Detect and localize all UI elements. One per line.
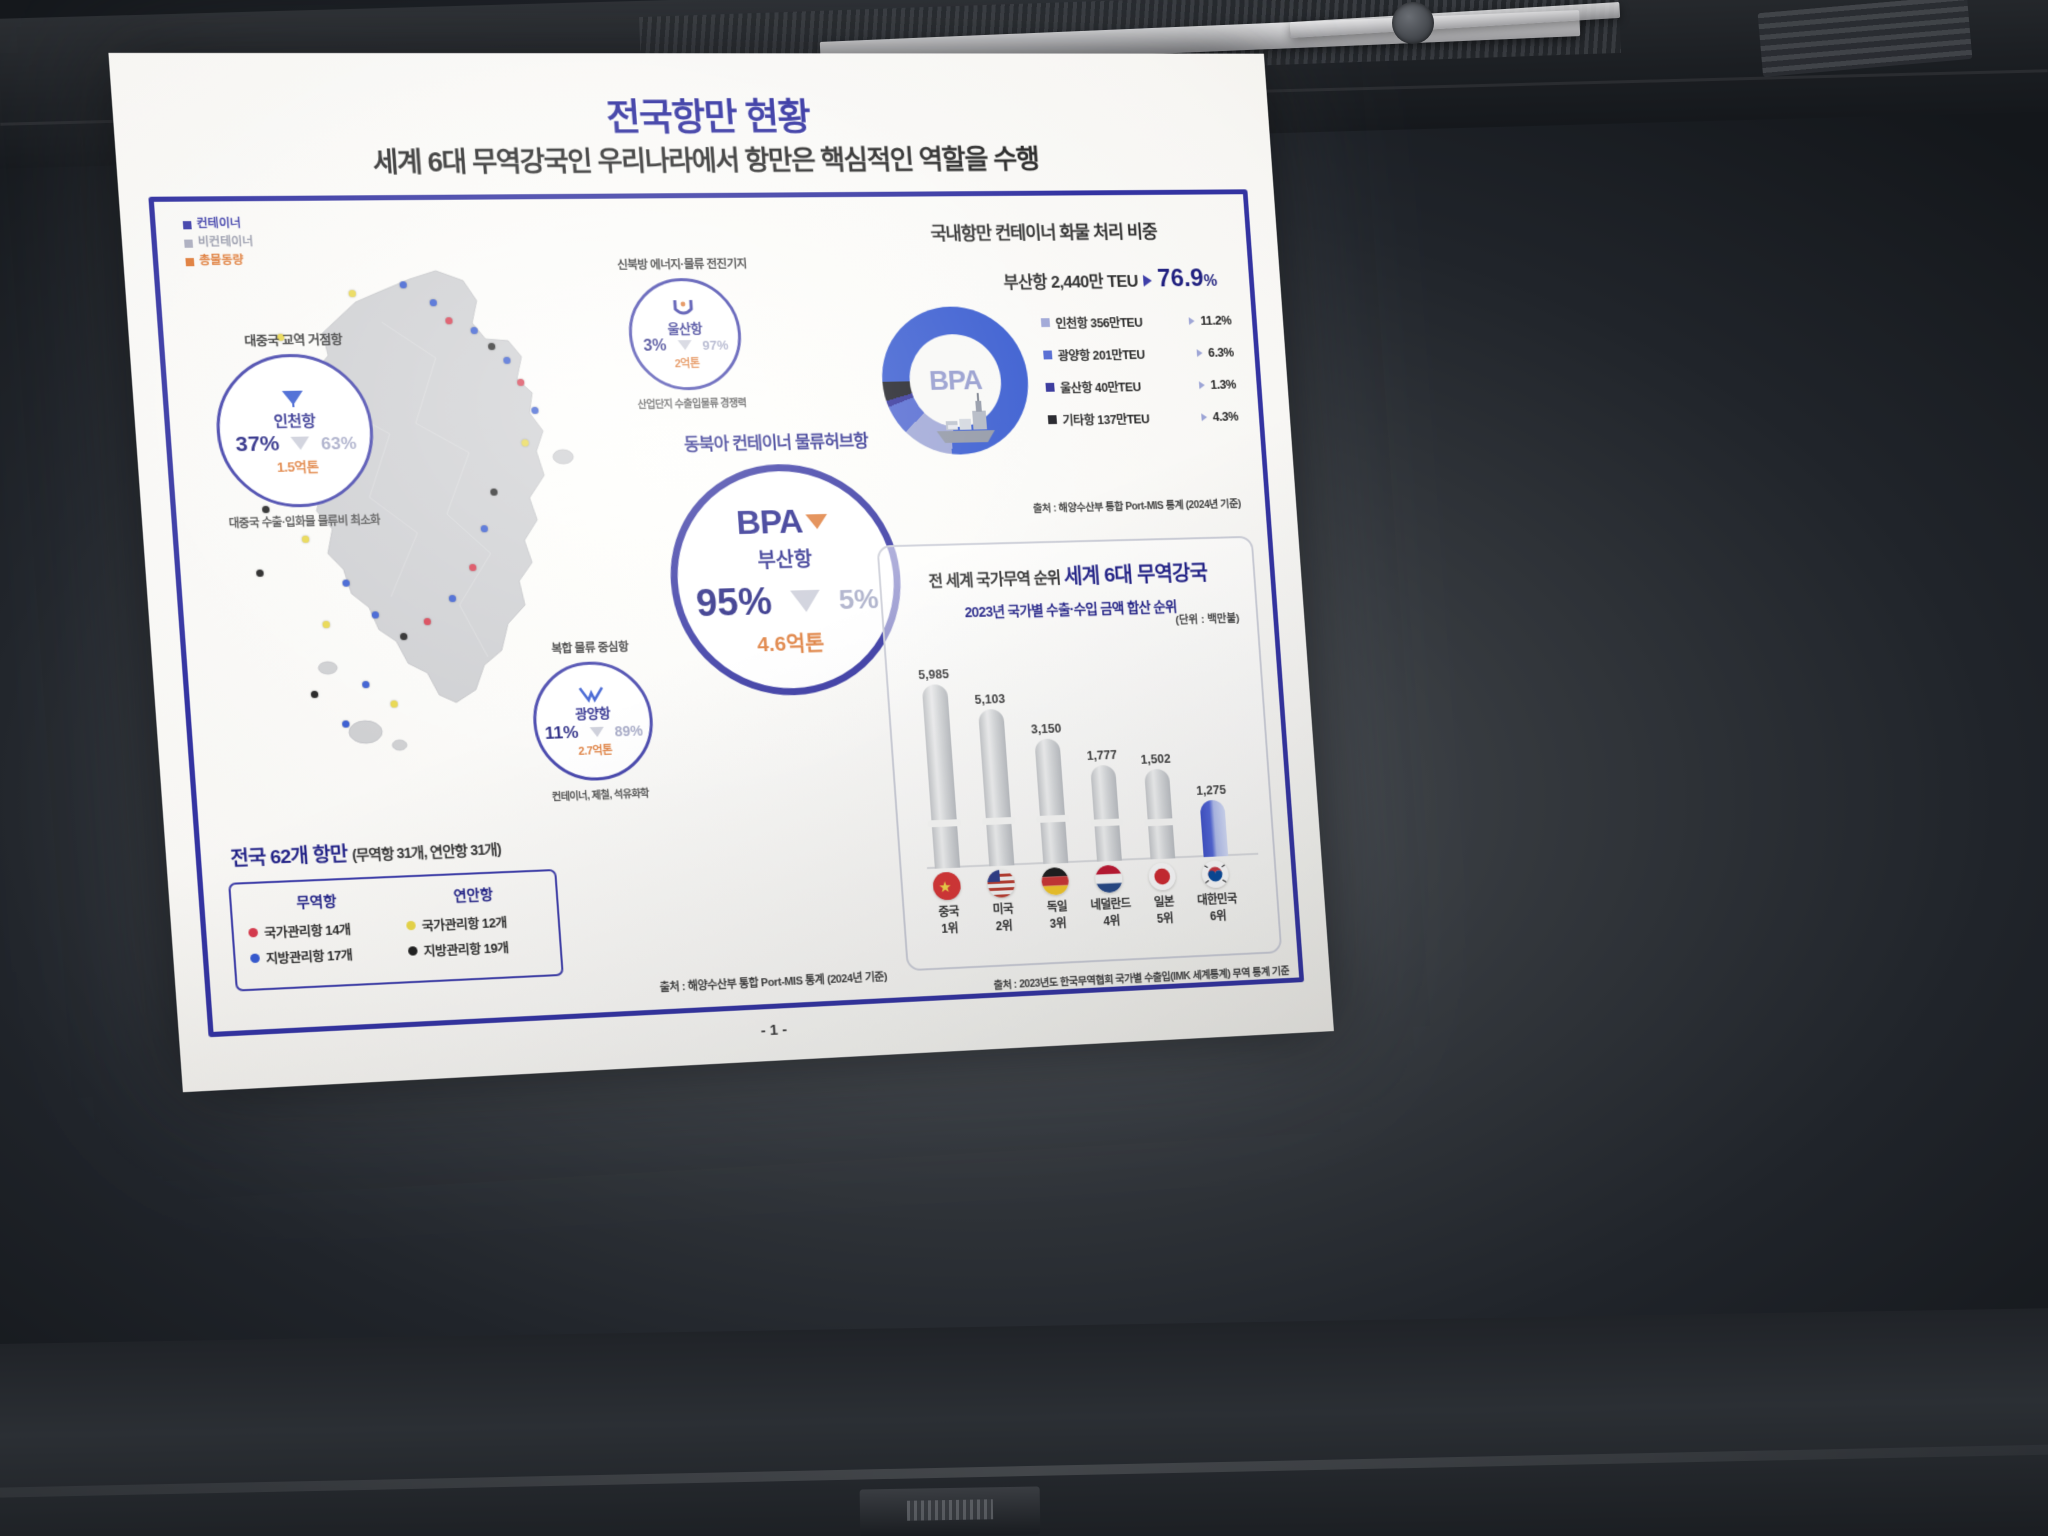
country-rank: 2위 bbox=[975, 916, 1032, 935]
teu-row-other: 기타항 137만TEU 4.3% bbox=[1047, 407, 1238, 429]
map-port-dot bbox=[490, 488, 498, 495]
legend-row-label: 지방관리항 19개 bbox=[423, 937, 509, 960]
port-card-gwangyang[interactable]: 복합 물류 중심항 광양항 11% 89% 2.7억톤 컨테이너, bbox=[529, 660, 657, 783]
arrow-right-icon bbox=[1197, 349, 1203, 357]
bar-china bbox=[922, 684, 960, 869]
incheon-tonnage: 1.5억톤 bbox=[276, 455, 319, 475]
trade-ranking-bar-chart: 5,985 5,103 3,150 bbox=[901, 631, 1262, 869]
ulsan-tonnage: 2억톤 bbox=[674, 354, 700, 370]
busan-container-pct: 95% bbox=[695, 581, 774, 626]
ulsan-divider-icon bbox=[677, 340, 692, 350]
busan-top-label: 동북아 컨테이너 물류허브항 bbox=[650, 426, 901, 456]
source-note-trade: 출처 : 2023년도 한국무역협회 국가별 수출입(IMK 세계통계) 무역 … bbox=[914, 963, 1290, 996]
country-japan: 일본 5위 bbox=[1134, 862, 1194, 928]
source-note-container-share: 출처 : 해양수산부 통합 Port-MIS 통계 (2024년 기준) bbox=[1032, 496, 1241, 516]
bar-usa bbox=[978, 709, 1014, 867]
legend-item-container: 컨테이너 bbox=[182, 215, 252, 234]
map-port-dot bbox=[517, 379, 525, 386]
container-share-panel: 국내항만 컨테이너 화물 처리 비중 부산항 2,440만 TEU 76.9% … bbox=[853, 210, 1252, 528]
gwangyang-noncontainer-pct: 89% bbox=[614, 722, 643, 739]
legend-label-noncontainer: 비컨테이너 bbox=[197, 234, 254, 253]
legend-column-title: 연안항 bbox=[404, 882, 543, 908]
map-port-dot bbox=[521, 439, 529, 446]
port-card-ulsan[interactable]: 신북방 에너지·물류 전진기지 울산항 3% 97% 2억톤 bbox=[625, 278, 745, 392]
teu-swatch-icon bbox=[1048, 415, 1057, 424]
bar-column: 1,777 bbox=[1085, 748, 1126, 862]
map-port-dot bbox=[531, 407, 539, 414]
busan-bpa-text: BPA bbox=[735, 502, 803, 542]
map-port-dot bbox=[342, 579, 350, 586]
ulsan-donut: 울산항 3% 97% 2억톤 bbox=[625, 278, 745, 392]
bar-value-label: 5,985 bbox=[918, 667, 949, 682]
arrow-right-icon bbox=[1199, 381, 1205, 389]
ulsan-bottom-label: 산업단지 수출입물류 경쟁력 bbox=[607, 394, 776, 412]
legend-column-trade-port: 무역항 국가관리항 14개 지방관리항 17개 bbox=[246, 888, 391, 978]
bar-column: 5,103 bbox=[973, 692, 1018, 867]
map-port-dot bbox=[399, 281, 407, 288]
legend-dot-icon bbox=[250, 953, 260, 963]
bar-value-label: 1,777 bbox=[1086, 748, 1117, 763]
busan-bpa-logo: BPA bbox=[735, 502, 829, 543]
port-card-incheon[interactable]: 대중국 교역 거점항 인천항 37% 63% 1.5억톤 bbox=[211, 353, 378, 509]
legend-swatch-noncontainer-icon bbox=[184, 239, 193, 247]
busan-tonnage: 4.6억톤 bbox=[756, 626, 825, 658]
arrow-right-icon bbox=[1189, 317, 1195, 325]
arrow-right-icon bbox=[1201, 413, 1207, 421]
teu-pct: 1.3% bbox=[1210, 377, 1236, 391]
map-port-dot bbox=[429, 299, 437, 306]
teu-swatch-icon bbox=[1043, 350, 1052, 359]
legend-row-label: 국가관리항 12개 bbox=[421, 912, 507, 935]
bar-value-label: 3,150 bbox=[1031, 722, 1062, 737]
country-flag-row: 중국 1위 미국 2위 bbox=[918, 858, 1268, 948]
bar-notch-icon bbox=[1144, 818, 1177, 826]
map-port-dot bbox=[256, 569, 264, 576]
country-usa: 미국 2위 bbox=[972, 869, 1033, 936]
legend-row-label: 지방관리항 17개 bbox=[265, 944, 353, 967]
incheon-container-pct: 37% bbox=[235, 431, 281, 456]
busan-noncontainer-pct: 5% bbox=[838, 583, 880, 616]
map-port-dot bbox=[481, 525, 489, 532]
map-port-dot bbox=[445, 317, 453, 324]
teu-row-ulsan: 울산항 40만TEU 1.3% bbox=[1045, 375, 1236, 397]
map-port-dot bbox=[503, 357, 511, 364]
floor-equipment-box bbox=[860, 1486, 1041, 1536]
bar-column: 3,150 bbox=[1029, 722, 1072, 865]
legend-dot-icon bbox=[248, 928, 258, 938]
teu-row-gwangyang: 광양항 201만TEU 6.3% bbox=[1043, 343, 1234, 365]
gwangyang-tonnage: 2.7억톤 bbox=[578, 741, 613, 758]
busan-divider-icon bbox=[790, 590, 821, 613]
ulsan-port-logo-icon bbox=[672, 298, 695, 318]
busan-port-name: 부산항 bbox=[756, 543, 813, 573]
gwangyang-port-name: 광양항 bbox=[574, 702, 610, 722]
country-name: 네덜란드 bbox=[1082, 896, 1138, 913]
container-ship-icon bbox=[928, 391, 1002, 447]
teu-swatch-icon bbox=[1045, 383, 1054, 392]
flag-korea-icon bbox=[1201, 860, 1229, 888]
legend-row: 국가관리항 14개 bbox=[248, 917, 389, 943]
presentation-slide: 전국항만 현황 세계 6대 무역강국인 우리나라에서 항만은 핵심적인 역할을 … bbox=[108, 53, 1334, 1092]
flag-germany-icon bbox=[1041, 867, 1070, 896]
busan-donut: BPA 부산항 95% 5% 4.6억톤 bbox=[663, 462, 909, 699]
ulsan-top-label: 신북방 에너지·물류 전진기지 bbox=[589, 255, 774, 273]
page-title: 전국항만 현황 bbox=[111, 87, 1270, 144]
country-china: 중국 1위 bbox=[918, 871, 979, 938]
busan-teu-label: 부산항 2,440만 TEU bbox=[1003, 267, 1139, 293]
busan-teu-pct: 76.9% bbox=[1157, 264, 1218, 293]
incheon-port-logo-icon bbox=[277, 386, 308, 409]
teu-label: 기타항 137만TEU bbox=[1062, 408, 1197, 429]
bar-japan bbox=[1144, 769, 1175, 860]
busan-teu-pct-value: 76.9 bbox=[1157, 264, 1205, 292]
teu-swatch-icon bbox=[1041, 318, 1050, 327]
busan-pct-row: 95% 5% bbox=[695, 578, 880, 626]
legend-row-label: 국가관리항 14개 bbox=[264, 919, 352, 942]
content-frame: 컨테이너 비컨테이너 총물동량 bbox=[148, 189, 1304, 1037]
container-share-list: 인천항 356만TEU 11.2% 광양항 201만TEU 6.3% bbox=[1040, 311, 1239, 443]
gwangyang-divider-icon bbox=[589, 726, 604, 737]
teu-label: 광양항 201만TEU bbox=[1057, 343, 1192, 364]
legend-dot-icon bbox=[408, 946, 418, 956]
port-type-legend-box: 무역항 국가관리항 14개 지방관리항 17개 연안항 bbox=[228, 869, 564, 992]
ulsan-noncontainer-pct: 97% bbox=[702, 337, 729, 352]
incheon-noncontainer-pct: 63% bbox=[320, 433, 357, 454]
ulsan-port-name: 울산항 bbox=[667, 317, 703, 336]
flag-netherlands-icon bbox=[1094, 865, 1123, 894]
trade-ranking-title-plain: 전 세계 국가무역 순위 bbox=[928, 570, 1061, 590]
gwangyang-port-logo-icon bbox=[577, 684, 605, 703]
teu-pct: 11.2% bbox=[1200, 313, 1232, 327]
legend-row: 지방관리항 19개 bbox=[408, 935, 546, 961]
map-port-dot bbox=[449, 595, 457, 602]
country-rank: 6위 bbox=[1190, 906, 1246, 925]
source-note-map: 출처 : 해양수산부 통합 Port-MIS 통계 (2024년 기준) bbox=[659, 968, 887, 995]
flag-china-icon bbox=[932, 872, 961, 901]
legend-row: 지방관리항 17개 bbox=[250, 942, 391, 968]
bar-notch-icon bbox=[1036, 815, 1069, 823]
map-port-dot bbox=[322, 621, 330, 628]
ports-total-headline: 전국 62개 항만 (무역항 31개, 연안항 31개) bbox=[229, 833, 501, 872]
country-rank: 3위 bbox=[1030, 913, 1087, 932]
gwangyang-pct-row: 11% 89% bbox=[544, 720, 643, 744]
bar-value-label: 1,275 bbox=[1196, 783, 1227, 798]
bar-column: 1,502 bbox=[1139, 752, 1179, 860]
ulsan-container-pct: 3% bbox=[643, 337, 667, 355]
container-share-title: 국내항만 컨테이너 화물 처리 비중 bbox=[853, 218, 1231, 247]
bpa-donut-chart: BPA bbox=[877, 306, 1033, 456]
bar-column: 1,275 bbox=[1195, 783, 1232, 857]
incheon-port-name: 인천항 bbox=[273, 409, 316, 431]
map-port-dot bbox=[469, 564, 477, 571]
incheon-pct-row: 37% 63% bbox=[235, 430, 358, 457]
country-rank: 4위 bbox=[1083, 911, 1140, 930]
bar-germany bbox=[1034, 738, 1068, 864]
legend-column-title: 무역항 bbox=[246, 888, 387, 914]
busan-teu-pct-unit: % bbox=[1203, 273, 1218, 290]
map-port-dot bbox=[302, 536, 310, 543]
map-port-dot bbox=[424, 618, 432, 625]
map-port-dot bbox=[400, 633, 408, 640]
bar-value-label: 1,502 bbox=[1140, 752, 1171, 767]
trade-ranking-title: 전 세계 국가무역 순위 세계 6대 무역강국 bbox=[880, 555, 1254, 595]
map-port-dot bbox=[371, 611, 379, 618]
map-port-dot bbox=[470, 327, 478, 334]
legend-swatch-container-icon bbox=[183, 221, 192, 229]
ports-total-detail: (무역항 31개, 연안항 31개) bbox=[351, 841, 501, 863]
ulsan-pct-row: 3% 97% bbox=[643, 336, 729, 355]
country-korea: 대한민국 6위 bbox=[1187, 859, 1246, 925]
room-environment: 전국항만 현황 세계 6대 무역강국인 우리나라에서 항만은 핵심적인 역할을 … bbox=[0, 0, 2048, 1536]
teu-pct: 4.3% bbox=[1212, 409, 1238, 423]
teu-label: 울산항 40만TEU bbox=[1060, 376, 1195, 397]
chart-unit-note: (단위 : 백만불) bbox=[1175, 610, 1240, 627]
gwangyang-container-pct: 11% bbox=[544, 722, 579, 743]
bar-netherlands bbox=[1090, 765, 1122, 862]
teu-label: 인천항 356만TEU bbox=[1055, 311, 1184, 331]
arrow-right-icon bbox=[1143, 275, 1152, 287]
trade-ranking-title-bold: 세계 6대 무역강국 bbox=[1063, 561, 1208, 587]
country-rank: 1위 bbox=[921, 918, 979, 937]
bar-notch-icon bbox=[982, 817, 1015, 825]
legend-row: 국가관리항 12개 bbox=[406, 910, 544, 935]
incheon-divider-icon bbox=[290, 436, 310, 450]
busan-triangle-icon bbox=[805, 513, 828, 528]
bar-value-label: 5,103 bbox=[974, 692, 1005, 707]
ports-total-main: 전국 62개 항만 bbox=[230, 844, 348, 870]
country-germany: 독일 3위 bbox=[1026, 866, 1086, 932]
incheon-top-label: 대중국 교역 거점항 bbox=[201, 328, 384, 350]
country-netherlands: 네덜란드 4위 bbox=[1080, 864, 1140, 930]
legend-column-coastal-port: 연안항 국가관리항 12개 지방관리항 19개 bbox=[404, 882, 547, 971]
legend-label-container: 컨테이너 bbox=[196, 216, 242, 235]
bar-notch-icon bbox=[1090, 818, 1123, 826]
trade-ranking-panel: 전 세계 국가무역 순위 세계 6대 무역강국 2023년 국가별 수출·수입 … bbox=[876, 536, 1282, 971]
teu-pct: 6.3% bbox=[1208, 345, 1234, 359]
legend-dot-icon bbox=[406, 921, 416, 931]
page-subtitle: 세계 6대 무역강국인 우리나라에서 항만은 핵심적인 역할을 수행 bbox=[115, 137, 1273, 182]
teu-row-incheon: 인천항 356만TEU 11.2% bbox=[1040, 311, 1231, 332]
map-port-dot bbox=[488, 343, 496, 350]
bar-korea bbox=[1200, 800, 1229, 857]
country-name: 대한민국 bbox=[1189, 891, 1245, 908]
legend-item-noncontainer: 비컨테이너 bbox=[184, 234, 254, 253]
flag-usa-icon bbox=[987, 869, 1016, 898]
projected-slide-surface: 전국항만 현황 세계 6대 무역강국인 우리나라에서 항만은 핵심적인 역할을 … bbox=[108, 53, 1334, 1092]
incheon-donut: 인천항 37% 63% 1.5억톤 bbox=[211, 353, 378, 509]
bar-notch-icon bbox=[928, 819, 962, 827]
busan-teu-highlight: 부산항 2,440만 TEU 76.9% bbox=[857, 264, 1218, 297]
port-card-busan[interactable]: 동북아 컨테이너 물류허브항 BPA 부산항 95% 5% 4.6억톤 bbox=[663, 462, 909, 699]
bar-column: 5,985 bbox=[917, 667, 964, 869]
map-port-dot bbox=[348, 290, 356, 297]
ceiling-speaker-icon bbox=[1392, 2, 1434, 44]
country-rank: 5위 bbox=[1137, 908, 1193, 927]
flag-japan-icon bbox=[1148, 862, 1177, 891]
gwangyang-donut: 광양항 11% 89% 2.7억톤 bbox=[529, 660, 657, 783]
